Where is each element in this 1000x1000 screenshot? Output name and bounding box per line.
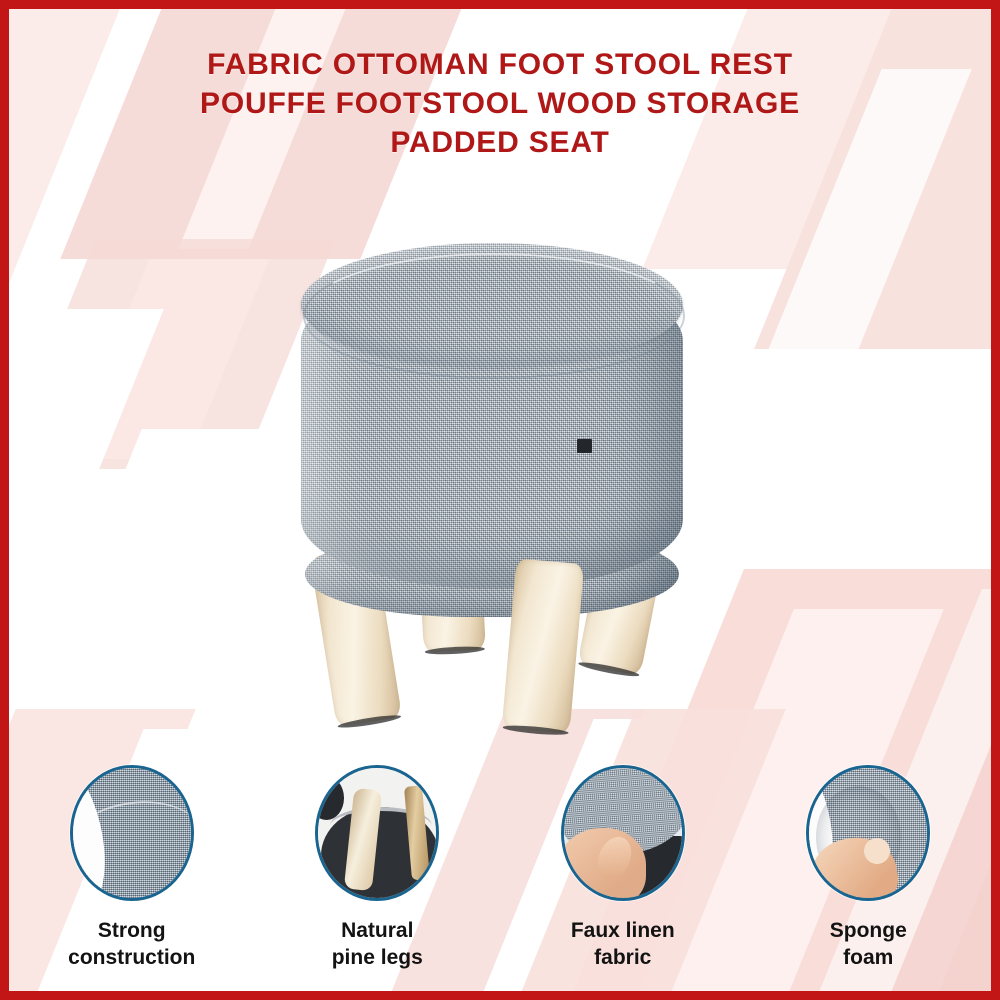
pine-legs-closeup-icon (315, 765, 439, 901)
feature-item-strong-construction: Strong construction (9, 765, 255, 975)
feature-item-sponge-foam: Sponge foam (746, 765, 992, 975)
feature-label: Natural pine legs (332, 917, 423, 972)
hero-product-image (271, 231, 711, 731)
ottoman-leg (502, 558, 585, 733)
feature-item-faux-linen-fabric: Faux linen fabric (500, 765, 746, 975)
feature-item-natural-pine-legs: Natural pine legs (255, 765, 501, 975)
infographic-canvas: FABRIC OTTOMAN FOOT STOOL REST POUFFE FO… (9, 9, 991, 991)
fabric-tag-icon (577, 439, 592, 453)
feature-label: Sponge foam (830, 917, 907, 972)
feature-list: Strong construction Natural pine legs (9, 765, 991, 975)
feature-label: Faux linen fabric (571, 917, 675, 972)
ottoman-seam (303, 253, 685, 379)
product-infographic-page: FABRIC OTTOMAN FOOT STOOL REST POUFFE FO… (0, 0, 1000, 1000)
feature-label: Strong construction (68, 917, 195, 972)
fabric-closeup-icon (70, 765, 194, 901)
thumb-pressing-foam-icon (806, 765, 930, 901)
hand-pinching-fabric-icon (561, 765, 685, 901)
decor-band (69, 259, 270, 459)
page-title: FABRIC OTTOMAN FOOT STOOL REST POUFFE FO… (9, 45, 991, 162)
decor-band (9, 309, 164, 729)
